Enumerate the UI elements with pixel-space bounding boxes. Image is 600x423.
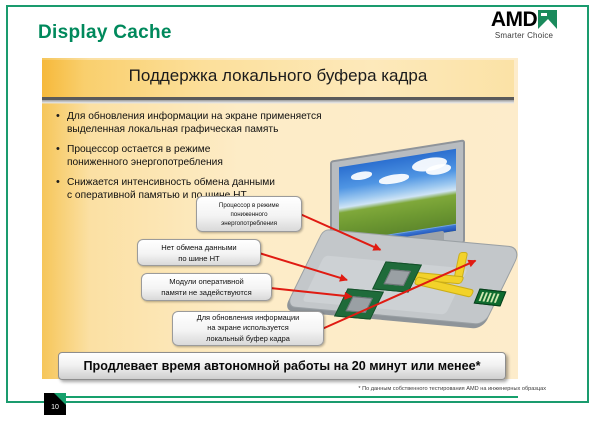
page-number: 10 <box>44 404 66 411</box>
cloud-shape <box>351 170 372 181</box>
amd-tagline: Smarter Choice <box>470 31 578 40</box>
callout-text: Модули оперативной памяти не задействуют… <box>161 276 251 298</box>
section-header-text: Поддержка локального буфера кадра <box>42 66 514 86</box>
chip-die <box>383 269 411 286</box>
callout-text: Процессор в режиме пониженного энергопот… <box>219 201 279 228</box>
callout-no-ht-traffic: Нет обмена данными по шине HT <box>137 239 261 266</box>
list-item: • Для обновления информации на экране пр… <box>56 110 356 136</box>
amd-wordmark-text: AMD <box>491 10 537 30</box>
footnote: * По данным собственного тестирования AM… <box>300 386 546 392</box>
cloud-shape <box>379 173 409 186</box>
page-marker: 10 <box>44 393 66 415</box>
amd-arrow-icon <box>538 10 557 29</box>
callout-text: Для обновления информации на экране испо… <box>197 313 300 345</box>
laptop-illustration <box>300 150 522 332</box>
page-title: Display Cache <box>38 22 172 44</box>
amd-logo: AMD Smarter Choice <box>470 10 578 40</box>
bullet-text: Процессор остается в режиме пониженного … <box>67 143 223 169</box>
bullet-dot-icon: • <box>56 110 67 123</box>
section-banner-shadow <box>42 100 514 104</box>
conclusion-banner: Продлевает время автономной работы на 20… <box>58 352 506 380</box>
callout-cpu-low-power: Процессор в режиме пониженного энергопот… <box>196 196 302 232</box>
callout-local-framebuffer: Для обновления информации на экране испо… <box>172 311 324 346</box>
bullet-text: Для обновления информации на экране прим… <box>67 110 322 136</box>
bullet-dot-icon: • <box>56 176 67 189</box>
memory-module <box>474 289 507 307</box>
conclusion-text: Продлевает время автономной работы на 20… <box>83 359 480 373</box>
callout-text: Нет обмена данными по шине HT <box>161 242 236 264</box>
bullet-dot-icon: • <box>56 143 67 156</box>
callout-memory-idle: Модули оперативной памяти не задействуют… <box>141 273 272 301</box>
footer-rule <box>66 396 518 398</box>
amd-wordmark-row: AMD <box>470 10 578 30</box>
section-banner: Поддержка локального буфера кадра <box>42 60 514 100</box>
